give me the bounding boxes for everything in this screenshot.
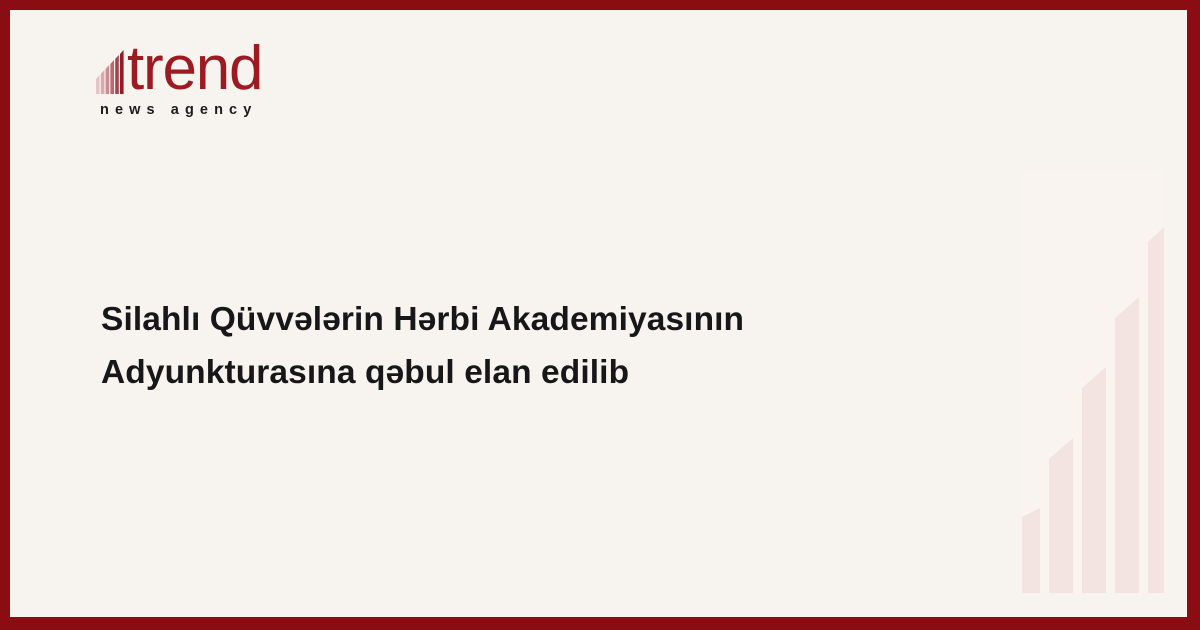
deco-bar-4 [1115,297,1139,593]
frame-border-top [0,0,1200,10]
mark-bar-2 [101,70,105,94]
frame-border-bottom [0,617,1200,630]
logo-lockup: trend [96,44,262,95]
deco-bar-2 [1049,438,1073,593]
ascending-bars-mark-icon [96,48,126,94]
frame-border-right [1187,0,1200,630]
deco-bar-3 [1082,367,1106,593]
brand-logo[interactable]: trend news agency [96,44,262,118]
deco-bar-1 [1022,508,1040,593]
logo-tagline: news agency [100,102,262,118]
deco-bar-5 [1148,227,1164,593]
mark-bar-4 [110,60,114,94]
page-title: Silahlı Qüvvələrin Hərbi Akademiyasının … [101,294,861,400]
social-share-card: trend news agency Silahlı Qüvvələrin Hər… [0,0,1200,630]
mark-bar-5 [115,55,119,94]
deco-bar-group [1022,227,1164,593]
logo-wordmark: trend [127,44,262,95]
mark-bar-1 [96,75,100,94]
ascending-bars-graphic [1022,170,1164,593]
mark-bar-6 [120,50,124,94]
mark-bar-3 [106,65,110,94]
frame-border-left [0,0,10,630]
